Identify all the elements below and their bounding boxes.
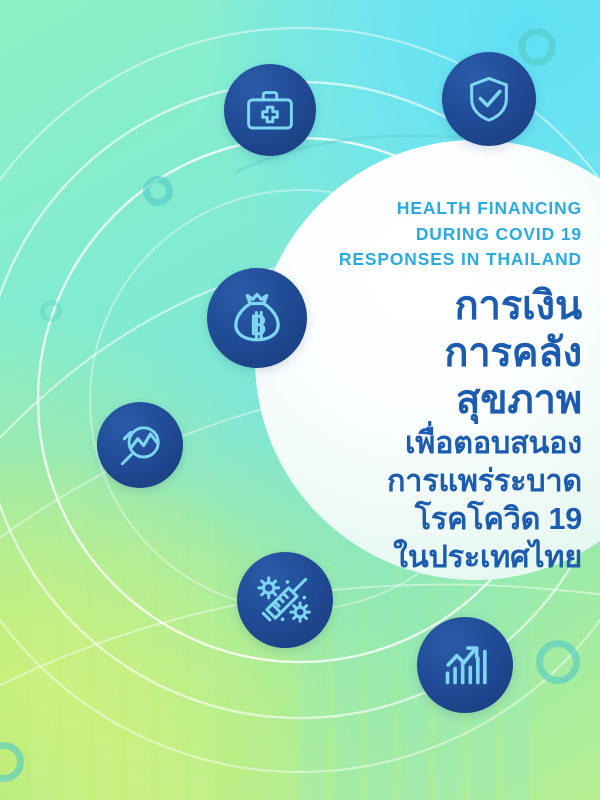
growth-bar-chart-icon (417, 617, 513, 713)
shield-check-icon (442, 52, 536, 146)
decorative-ring (518, 28, 556, 66)
magnifier-chart-icon (97, 402, 183, 488)
thai-subheadline-line-1: เพื่อตอบสนอง (300, 424, 582, 462)
english-headline-line-2: DURING COVID 19 (300, 222, 582, 248)
money-bag-baht-icon (207, 268, 307, 368)
thai-subheadline-line-2: การแพร่ระบาด (300, 462, 582, 500)
thai-subheadline-line-4: ในประเทศไทย (300, 538, 582, 576)
english-headline-line-1: HEALTH FINANCING (300, 196, 582, 222)
first-aid-kit-icon (224, 64, 316, 156)
decorative-ring (143, 176, 173, 206)
poster-text-block: HEALTH FINANCING DURING COVID 19 RESPONS… (300, 196, 582, 576)
thai-headline-line-2: การคลัง (300, 330, 582, 377)
thai-subheadline-line-3: โรคโควิด 19 (300, 500, 582, 538)
decorative-ring (40, 300, 62, 322)
english-headline-line-3: RESPONSES IN THAILAND (300, 247, 582, 273)
syringe-vaccine-icon (237, 552, 333, 648)
poster-canvas: HEALTH FINANCING DURING COVID 19 RESPONS… (0, 0, 600, 800)
thai-headline-group: การเงิน การคลัง สุขภาพ เพื่อตอบสนอง การแ… (300, 283, 582, 576)
decorative-ring (536, 640, 580, 684)
thai-headline-line-3: สุขภาพ (300, 377, 582, 424)
thai-headline-line-1: การเงิน (300, 283, 582, 330)
